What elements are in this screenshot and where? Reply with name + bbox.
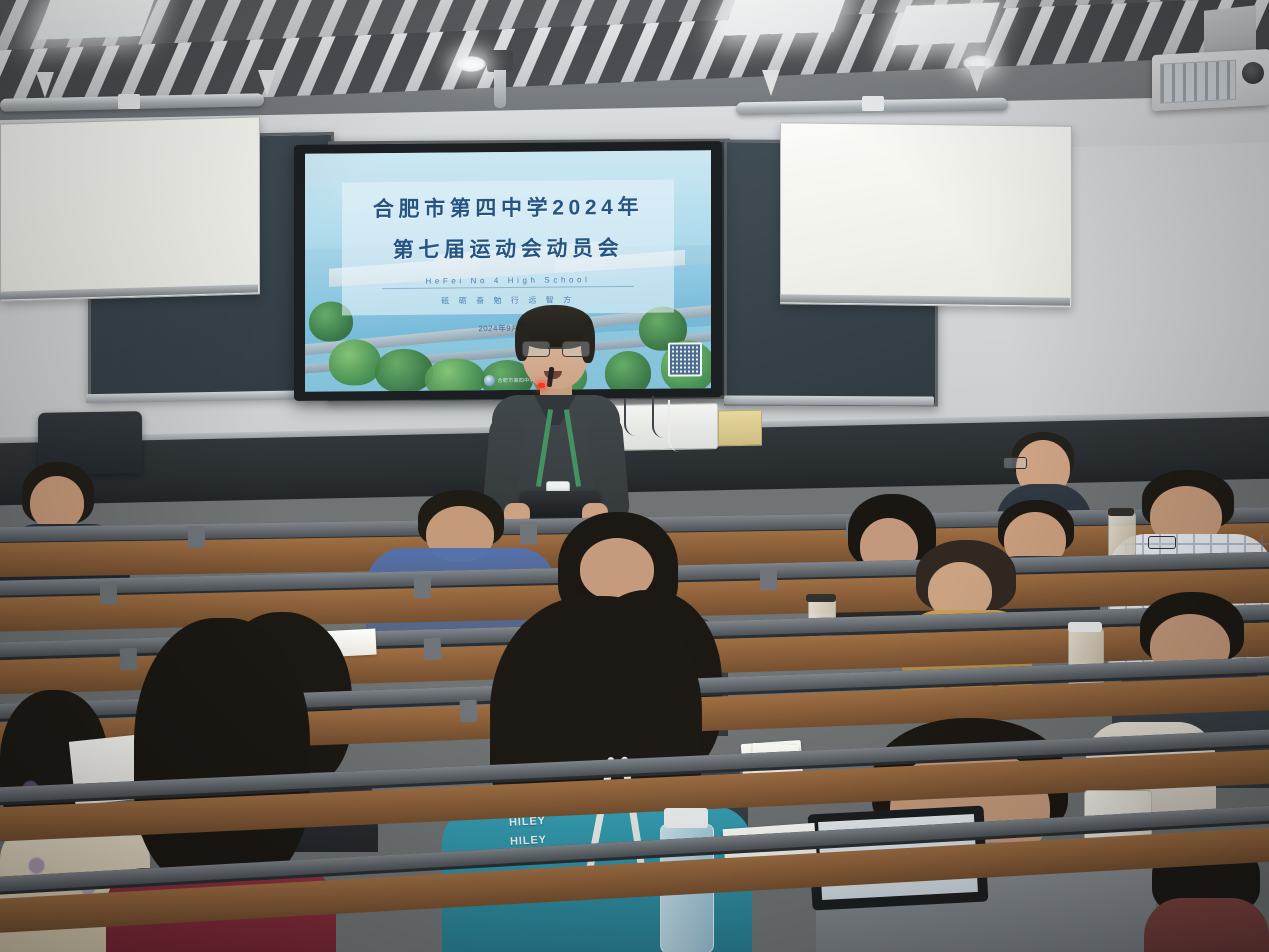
projector-lens-icon [1242,62,1264,84]
slide-title-line-1: 合肥市第四中学2024年 [305,191,711,225]
screen-motor-box [862,96,884,111]
cup-lid [1108,508,1134,516]
slide-bg-tree [425,358,485,392]
bottle-cap [1068,622,1102,632]
eyeglasses-icon [1148,536,1176,549]
screen-roller-bracket [258,70,276,96]
mic-led-indicator [538,383,545,388]
tan-folder [718,410,762,447]
projector-vent [1160,60,1236,104]
ceiling-camera-icon [487,50,513,72]
qr-code-icon [668,342,702,376]
bottle-cap [664,808,708,828]
ceiling-light-panel [36,0,157,40]
slide-title-line-2: 第七届运动会动员会 [305,231,711,265]
projection-screen-left [0,116,260,301]
slide-bg-tree [329,339,381,385]
ceiling-light-panel [892,2,1000,45]
bench-bracket [188,526,205,548]
ceiling-light-panel [722,0,848,36]
eyeglasses-icon [522,341,588,355]
bench-bracket [100,582,117,604]
screen-roller-bracket [968,66,986,92]
chalk-tray [724,395,934,405]
bench-bracket [424,638,442,660]
downlight-icon [456,56,486,72]
screen-roller-bracket [762,70,780,96]
cable [668,400,690,452]
eyeglasses-icon [1003,457,1027,469]
lecture-hall-photo: 合肥市第四中学2024年 第七届运动会动员会 HeFei No 4 High S… [0,0,1269,952]
projection-screen-right [780,122,1072,308]
screen-roller-bracket [36,72,54,98]
bench-bracket [414,576,431,598]
slide-bg-tree [375,349,433,392]
bench-bracket [760,568,777,590]
screen-motor-box [118,94,140,109]
slide-subtitle-english: HeFei No 4 High School [382,275,634,289]
cup-lid [806,594,836,602]
